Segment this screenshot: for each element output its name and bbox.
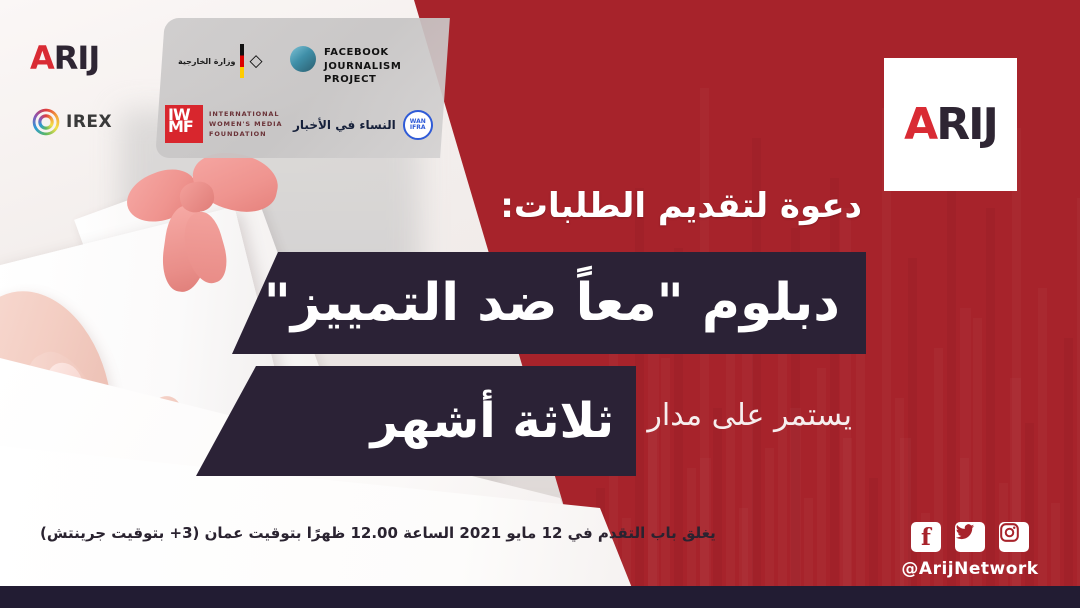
bar-pattern-stripe xyxy=(648,348,659,608)
social-icons: f xyxy=(890,522,1050,552)
twitter-icon[interactable] xyxy=(955,522,985,552)
german-foreign-office-label: وزارة الخارجية xyxy=(178,57,235,66)
wan-ifra-mark-icon: WAN IFRA xyxy=(403,110,433,140)
arij-logo: ARIJ xyxy=(30,42,99,74)
wan-ifra-label: النساء في الأخبار xyxy=(293,118,396,132)
irex-label: IREX xyxy=(66,112,112,132)
kicker-text: دعوة لتقديم الطلبات: xyxy=(500,186,862,226)
bar-pattern-stripe xyxy=(713,408,722,608)
iwmf-logo: IW MF INTERNATIONAL WOMEN'S MEDIA FOUNDA… xyxy=(165,105,282,143)
arij-logo-a: A xyxy=(30,39,54,77)
german-eagle-icon: ◇ xyxy=(249,53,262,70)
arij-badge-rest: RIJ xyxy=(936,99,997,150)
social-block: f @ArijNetwork xyxy=(890,522,1050,579)
ribbon-bow xyxy=(120,152,290,292)
arij-badge-mark: ARIJ xyxy=(904,103,997,147)
instagram-icon[interactable] xyxy=(999,522,1029,552)
facebook-journalism-mark-icon xyxy=(290,46,316,72)
bottom-strip xyxy=(0,586,1080,608)
bar-pattern-stripe xyxy=(765,448,774,608)
social-handle: @ArijNetwork xyxy=(890,559,1050,579)
bar-pattern-stripe xyxy=(790,408,801,608)
facebook-journalism-label: FACEBOOK JOURNALISM PROJECT xyxy=(324,46,401,87)
german-flag-bar-icon xyxy=(240,44,244,78)
instagram-glyph xyxy=(999,522,1020,543)
bar-pattern-stripe xyxy=(1025,423,1034,608)
german-foreign-office-logo: وزارة الخارجية ◇ xyxy=(178,44,263,78)
title-band: دبلوم "معاً ضد التمييز" xyxy=(232,252,866,354)
arij-logo-rest: RIJ xyxy=(54,39,99,77)
twitter-bird-glyph xyxy=(955,522,975,542)
iwmf-label: INTERNATIONAL WOMEN'S MEDIA FOUNDATION xyxy=(209,109,282,139)
irex-logo: IREX xyxy=(32,108,112,136)
bar-pattern-stripe xyxy=(1064,338,1073,608)
iwmf-line1: INTERNATIONAL xyxy=(209,110,279,118)
irex-mark-icon xyxy=(32,108,60,136)
iwmf-mark-icon: IW MF xyxy=(165,105,203,143)
facebook-journalism-project-logo: FACEBOOK JOURNALISM PROJECT xyxy=(290,46,401,87)
bar-pattern-stripe xyxy=(830,178,839,608)
facebook-icon[interactable]: f xyxy=(911,522,941,552)
fbj-line3: PROJECT xyxy=(324,74,376,85)
arij-badge: ARIJ xyxy=(884,58,1017,191)
iwmf-line2: WOMEN'S MEDIA xyxy=(209,120,282,128)
facebook-glyph: f xyxy=(911,522,941,552)
wan-ifra-logo: النساء في الأخبار WAN IFRA xyxy=(293,110,433,140)
bar-pattern-stripe xyxy=(778,328,787,608)
bar-pattern-stripe xyxy=(661,358,670,608)
iwmf-mark-line2: MF xyxy=(168,121,193,133)
duration-text: ثلاثة أشهر xyxy=(370,393,614,449)
fbj-line1: FACEBOOK xyxy=(324,47,389,58)
arij-badge-a: A xyxy=(904,99,936,150)
fbj-line2: JOURNALISM xyxy=(324,61,401,72)
deadline-text: يغلق باب التقدم في 12 مايو 2021 الساعة 1… xyxy=(40,524,716,542)
duration-band: ثلاثة أشهر xyxy=(196,366,636,476)
promo-poster: ARIJ IREX وزارة الخارجية ◇ FACEBOOK JOUR… xyxy=(0,0,1080,608)
title-text: دبلوم "معاً ضد التمييز" xyxy=(264,273,840,333)
wan-mark-line2: IFRA xyxy=(410,125,426,131)
bar-pattern-stripe xyxy=(635,188,644,608)
duration-prefix-text: يستمر على مدار xyxy=(647,398,852,433)
iwmf-line3: FOUNDATION xyxy=(209,130,266,138)
